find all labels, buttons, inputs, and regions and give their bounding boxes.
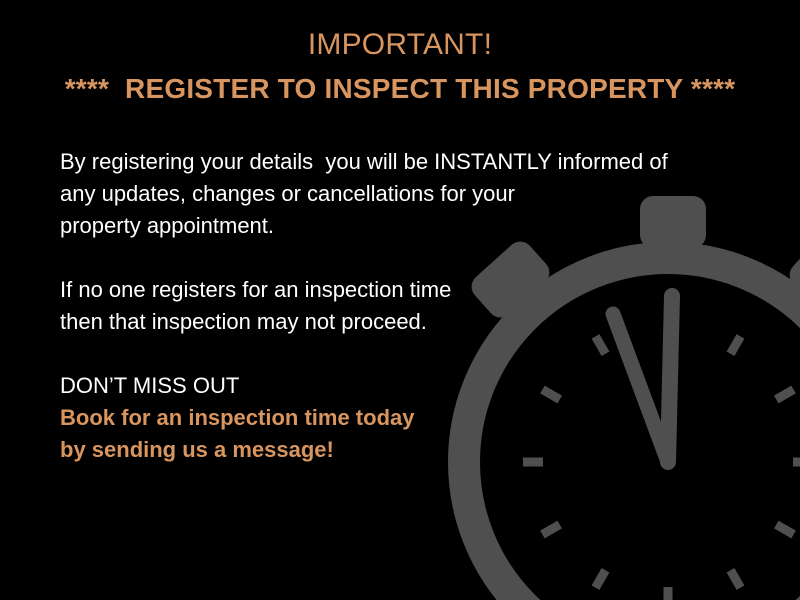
paragraph-no-registration-warning: If no one registers for an inspection ti… bbox=[60, 274, 720, 338]
body-line: By registering your details you will be … bbox=[60, 146, 720, 178]
paragraph-registering-details: By registering your details you will be … bbox=[60, 146, 720, 242]
body-block: By registering your details you will be … bbox=[60, 146, 720, 466]
title-important: IMPORTANT! bbox=[0, 26, 800, 64]
body-line: property appointment. bbox=[60, 210, 720, 242]
cta-book-line: Book for an inspection time today bbox=[60, 402, 720, 434]
slide-text-layer: IMPORTANT! **** REGISTER TO INSPECT THIS… bbox=[0, 0, 800, 600]
body-line: then that inspection may not proceed. bbox=[60, 306, 720, 338]
title-register-to-inspect: **** REGISTER TO INSPECT THIS PROPERTY *… bbox=[0, 69, 800, 109]
body-line: If no one registers for an inspection ti… bbox=[60, 274, 720, 306]
paragraph-spacer bbox=[60, 242, 720, 274]
body-line: any updates, changes or cancellations fo… bbox=[60, 178, 720, 210]
title-block: IMPORTANT! **** REGISTER TO INSPECT THIS… bbox=[0, 26, 800, 109]
dont-miss-out-line: DON’T MISS OUT bbox=[60, 370, 720, 402]
paragraph-call-to-action: DON’T MISS OUT Book for an inspection ti… bbox=[60, 370, 720, 466]
promo-slide: IMPORTANT! **** REGISTER TO INSPECT THIS… bbox=[0, 0, 800, 600]
paragraph-spacer bbox=[60, 338, 720, 370]
cta-message-line: by sending us a message! bbox=[60, 434, 720, 466]
